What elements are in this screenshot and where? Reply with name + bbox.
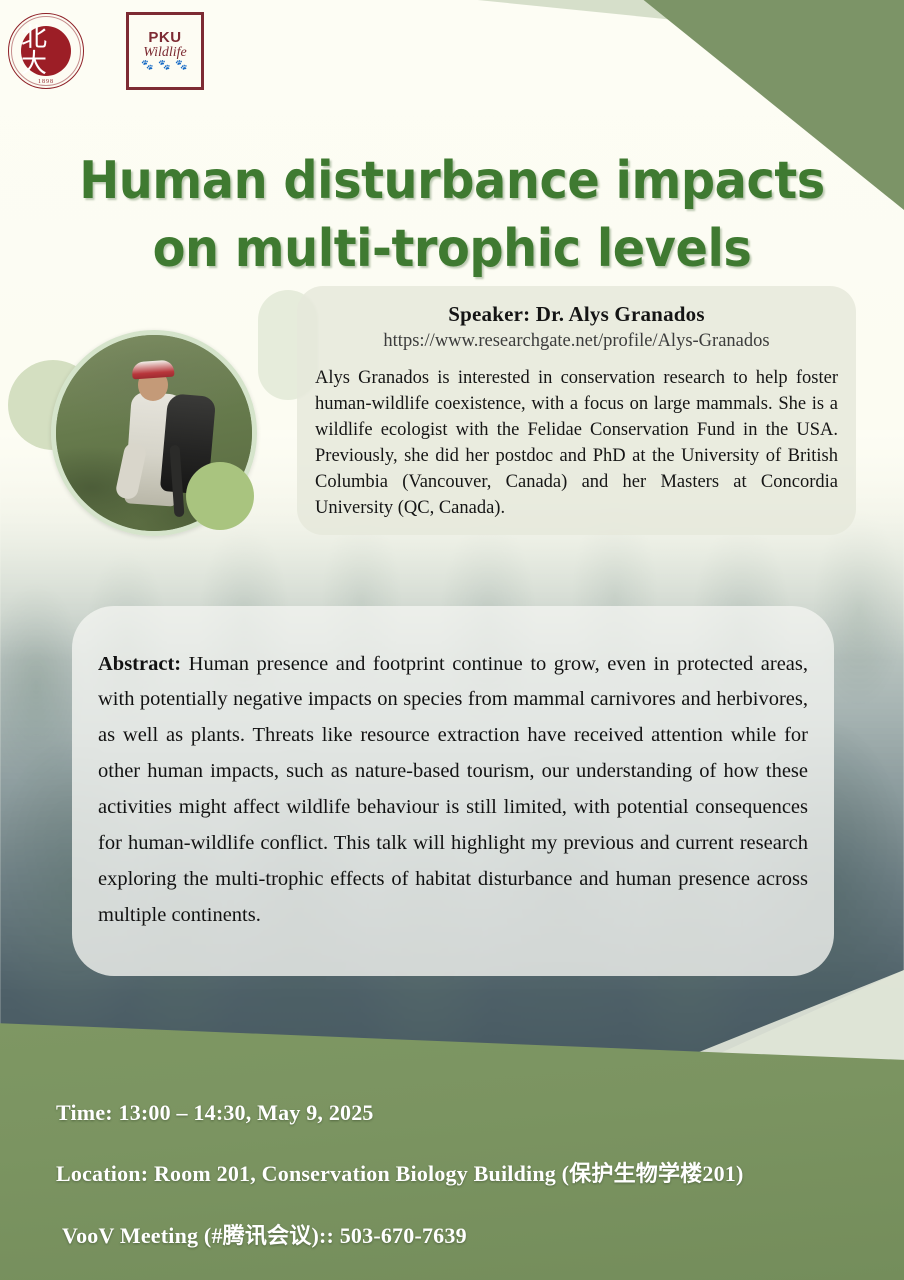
event-location: Location: Room 201, Conservation Biology… (56, 1156, 866, 1188)
pku-wildlife-logo: PKU Wildlife 🐾 🐾 🐾 (126, 12, 204, 90)
logo-bar: 北大 1898 PKU Wildlife 🐾 🐾 🐾 (8, 12, 204, 90)
wildlife-logo-line2: Wildlife (143, 46, 187, 61)
abstract-paragraph: Abstract: Human presence and footprint c… (98, 647, 808, 934)
poster-title: Human disturbance impacts on multi-troph… (36, 147, 868, 284)
decor-circle-green (186, 462, 254, 530)
abstract-card: Abstract: Human presence and footprint c… (72, 606, 834, 976)
abstract-label: Abstract: (98, 653, 181, 675)
poster-title-line-2: on multi-trophic levels (36, 215, 868, 284)
event-details: Time: 13:00 – 14:30, May 9, 2025 Locatio… (56, 1100, 866, 1250)
poster-root: 北大 1898 PKU Wildlife 🐾 🐾 🐾 Human disturb… (0, 0, 904, 1280)
speaker-card: Speaker: Dr. Alys Granados https://www.r… (297, 286, 856, 535)
seal-year: 1898 (9, 79, 83, 85)
speaker-bio: Alys Granados is interested in conservat… (315, 365, 838, 521)
abstract-body: Human presence and footprint continue to… (98, 653, 808, 926)
wildlife-logo-line1: PKU (148, 30, 181, 46)
event-meeting-id: VooV Meeting (#腾讯会议):: 503-670-7639 (56, 1218, 866, 1250)
event-time: Time: 13:00 – 14:30, May 9, 2025 (56, 1100, 866, 1126)
speaker-profile-link[interactable]: https://www.researchgate.net/profile/Aly… (315, 331, 838, 352)
photo-person-cap (131, 360, 174, 380)
poster-title-line-1: Human disturbance impacts (36, 147, 868, 216)
paw-prints-icon: 🐾 🐾 🐾 (141, 61, 188, 72)
peking-university-logo: 北大 1898 (8, 13, 84, 89)
speaker-name: Speaker: Dr. Alys Granados (315, 302, 838, 327)
seal-ring (11, 16, 81, 86)
